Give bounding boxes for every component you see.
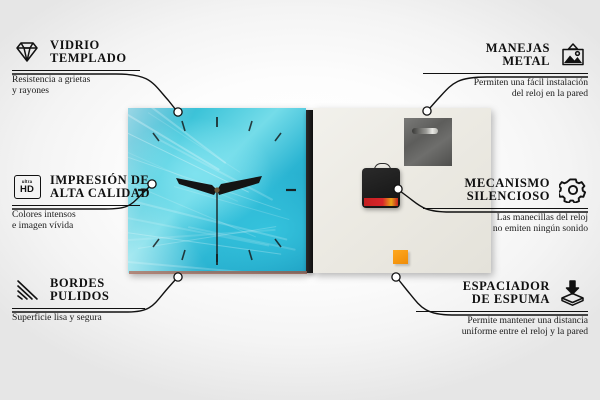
infographic-canvas: VIDRIO TEMPLADO Resistencia a grietas y …	[0, 0, 600, 400]
feature-desc: Resistencia a grietas y rayones	[12, 74, 152, 97]
feature-rule	[12, 205, 140, 206]
hour-hand	[176, 178, 217, 195]
feature-manejas-metal: MANEJAS METAL Permiten una fácil instala…	[423, 41, 588, 100]
feature-desc: Permite mantener una distancia uniforme …	[416, 315, 588, 338]
minute-hand	[217, 176, 262, 195]
gear-icon	[558, 176, 588, 204]
feature-vidrio-templado: VIDRIO TEMPLADO Resistencia a grietas y …	[12, 38, 152, 97]
feature-title: VIDRIO TEMPLADO	[50, 39, 127, 66]
feature-bordes-pulidos: BORDES PULIDOS Superficie lisa y segura	[12, 276, 157, 323]
ultra-hd-icon: ultra HD	[12, 173, 42, 201]
feature-impresion-alta-calidad: ultra HD IMPRESIÓN DE ALTA CALIDAD Color…	[12, 173, 152, 232]
hands-hub	[214, 187, 219, 192]
feature-rule	[12, 308, 145, 309]
diamond-icon	[12, 38, 42, 66]
picture-hanger-icon	[558, 41, 588, 69]
feature-rule	[12, 70, 140, 71]
feature-desc: Permiten una fácil instalación del reloj…	[423, 77, 588, 100]
feature-title: ESPACIADOR DE ESPUMA	[463, 280, 550, 307]
feature-rule	[423, 208, 588, 209]
ultra-hd-main-text: HD	[20, 185, 34, 195]
feature-desc: Colores intensos e imagen vívida	[12, 209, 152, 232]
feature-rule	[416, 311, 588, 312]
feature-title: BORDES PULIDOS	[50, 277, 109, 304]
feature-title: MECANISMO SILENCIOSO	[464, 177, 550, 204]
foam-spacer-icon	[558, 279, 588, 307]
feature-desc: Las manecillas del reloj no emiten ningú…	[423, 212, 588, 235]
feature-desc: Superficie lisa y segura	[12, 312, 157, 323]
feature-title: IMPRESIÓN DE ALTA CALIDAD	[50, 174, 150, 201]
feature-rule	[423, 73, 588, 74]
polished-edge-icon	[12, 276, 42, 304]
feature-espaciador-espuma: ESPACIADOR DE ESPUMA Permite mantener un…	[416, 279, 588, 338]
feature-mecanismo-silencioso: MECANISMO SILENCIOSO Las manecillas del …	[423, 176, 588, 235]
feature-title: MANEJAS METAL	[486, 42, 550, 69]
